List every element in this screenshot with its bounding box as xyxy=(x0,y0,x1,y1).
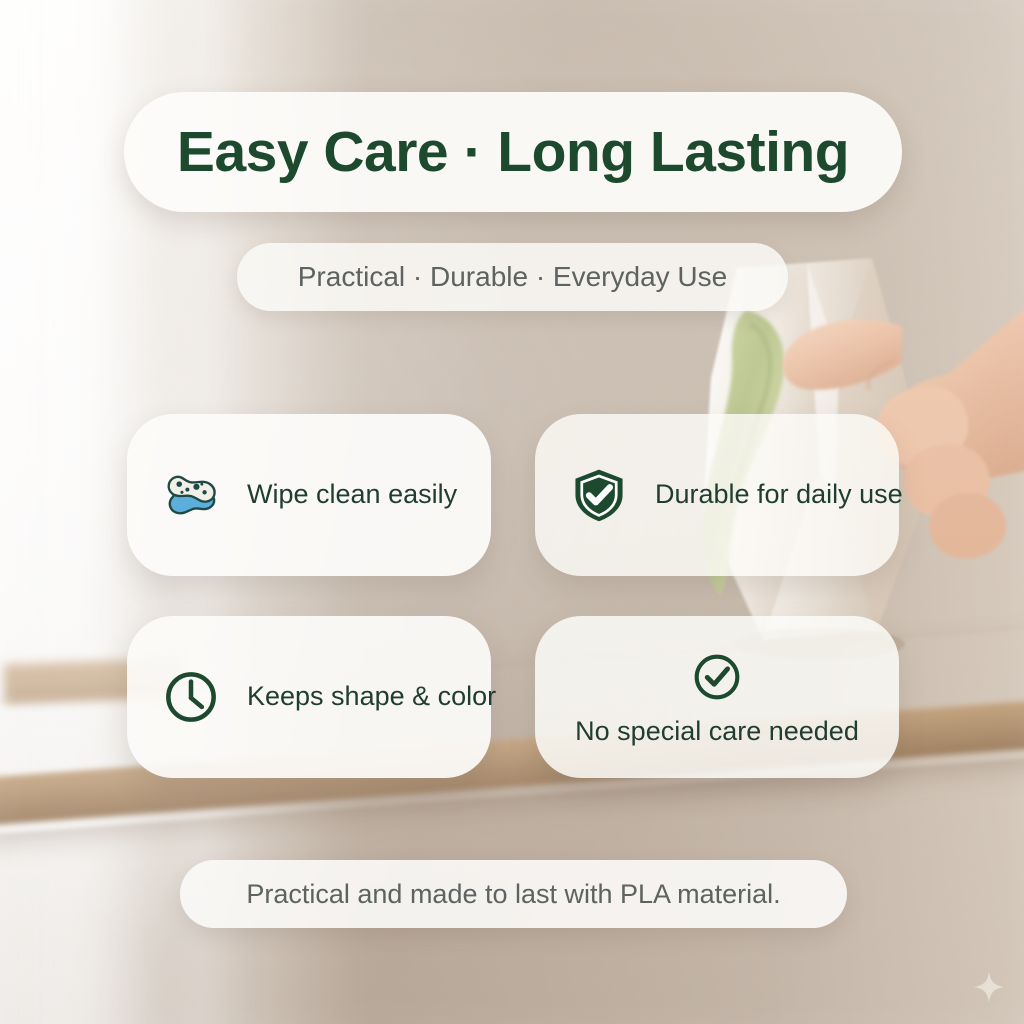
sparkle-icon xyxy=(972,970,1006,1004)
content-overlay: Easy Care · Long Lasting Practical · Dur… xyxy=(0,0,1024,1024)
feature-card-no-special-care[interactable]: No special care needed xyxy=(535,616,899,778)
clock-icon xyxy=(161,667,221,727)
feature-label: Durable for daily use xyxy=(655,480,903,510)
feature-card-wipe-clean[interactable]: Wipe clean easily xyxy=(127,414,491,576)
shield-check-icon xyxy=(569,465,629,525)
feature-card-durable[interactable]: Durable for daily use xyxy=(535,414,899,576)
footer-caption: Practical and made to last with PLA mate… xyxy=(246,879,780,910)
page-subtitle: Practical · Durable · Everyday Use xyxy=(298,261,727,293)
feature-grid: Wipe clean easily Durable for daily use xyxy=(127,414,899,778)
infographic-canvas: Easy Care · Long Lasting Practical · Dur… xyxy=(0,0,1024,1024)
sponge-icon xyxy=(161,465,221,525)
page-title: Easy Care · Long Lasting xyxy=(177,119,849,185)
feature-label: Wipe clean easily xyxy=(247,480,457,510)
footer-pill: Practical and made to last with PLA mate… xyxy=(180,860,847,928)
feature-label: No special care needed xyxy=(575,717,859,747)
subtitle-pill: Practical · Durable · Everyday Use xyxy=(237,243,788,311)
title-pill: Easy Care · Long Lasting xyxy=(124,92,902,212)
check-circle-icon xyxy=(687,647,747,707)
feature-card-keeps-shape[interactable]: Keeps shape & color xyxy=(127,616,491,778)
feature-label: Keeps shape & color xyxy=(247,682,496,712)
